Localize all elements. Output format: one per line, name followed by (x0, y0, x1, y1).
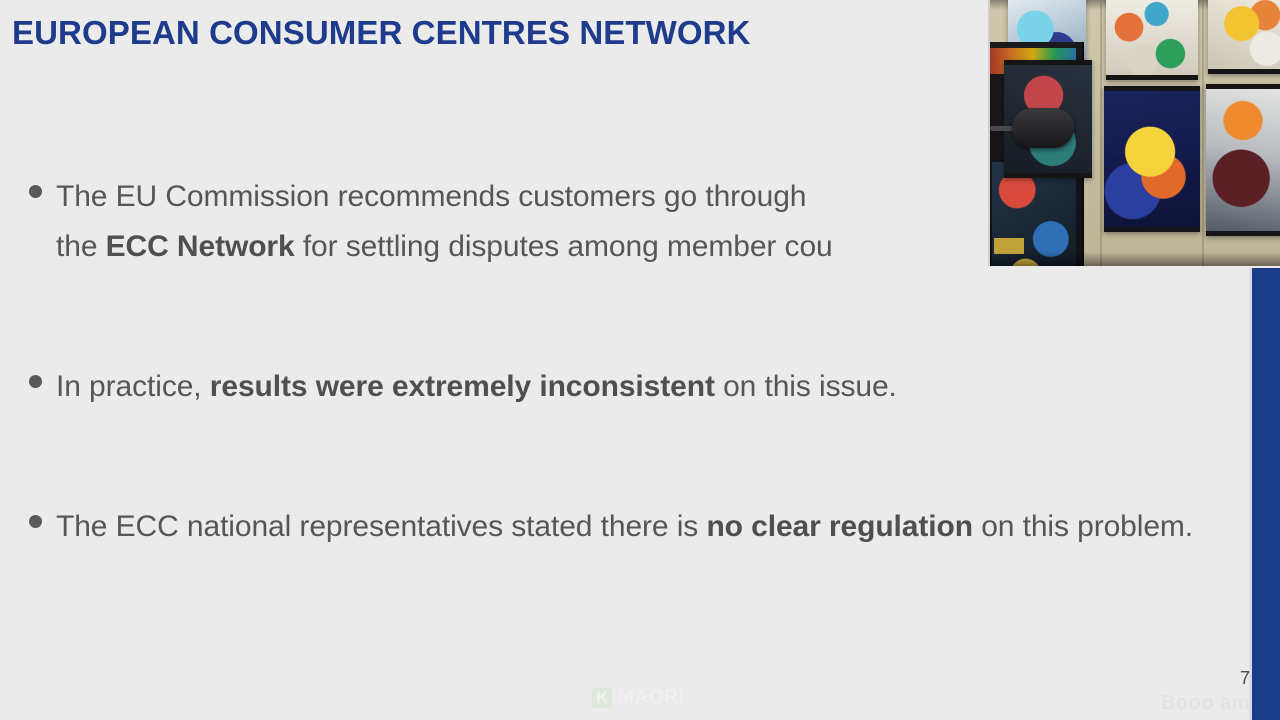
microphone-icon (1012, 108, 1074, 148)
page-number: 7 (1240, 668, 1250, 689)
bullet-text: The EU Commission recommends customers g… (56, 172, 833, 272)
watermark-center: K MAORI (592, 687, 684, 709)
wall-scroll-poster (1106, 0, 1198, 80)
floor-shadow (990, 252, 1280, 266)
accent-bar (1252, 268, 1280, 720)
presentation-slide: EUROPEAN CONSUMER CENTRES NETWORK The EU… (0, 0, 1280, 720)
watermark-badge: K (592, 688, 612, 708)
bullet-prefix: In practice, (56, 370, 210, 403)
wall-scroll-poster (1206, 84, 1280, 236)
bullet-suffix: on this issue. (715, 370, 897, 403)
watermark-right: Booo am (1161, 692, 1250, 715)
presenter-webcam-overlay[interactable] (988, 0, 1280, 266)
bullet-text: In practice, results were extremely inco… (56, 362, 897, 412)
bullet-text: The ECC national representatives stated … (56, 502, 1193, 552)
bullet-prefix: The ECC national representatives stated … (56, 510, 706, 543)
bullet-dot-icon (14, 502, 56, 528)
list-item: The ECC national representatives stated … (0, 502, 1193, 552)
webcam-scene (990, 0, 1280, 266)
bullet-dot-icon (14, 362, 56, 388)
bullet-bold: results were extremely inconsistent (210, 370, 715, 403)
watermark-word: MAORI (618, 687, 684, 709)
wall-scroll-poster (1104, 86, 1200, 232)
bullet-line-2-prefix: the (56, 230, 106, 263)
wall-seam (1202, 0, 1204, 266)
list-item: In practice, results were extremely inco… (0, 362, 897, 412)
bullet-bold: no clear regulation (706, 510, 973, 543)
page-title: EUROPEAN CONSUMER CENTRES NETWORK (12, 14, 751, 52)
wall-seam (1100, 0, 1102, 266)
bullet-line-2-suffix: for settling disputes among member cou (295, 230, 833, 263)
bullet-suffix: on this problem. (973, 510, 1193, 543)
wall-scroll-poster (1208, 0, 1280, 74)
list-item: The EU Commission recommends customers g… (0, 172, 833, 272)
bullet-line-1: The EU Commission recommends customers g… (56, 180, 806, 213)
bullet-line-2-bold: ECC Network (106, 230, 295, 263)
bullet-dot-icon (14, 172, 56, 198)
